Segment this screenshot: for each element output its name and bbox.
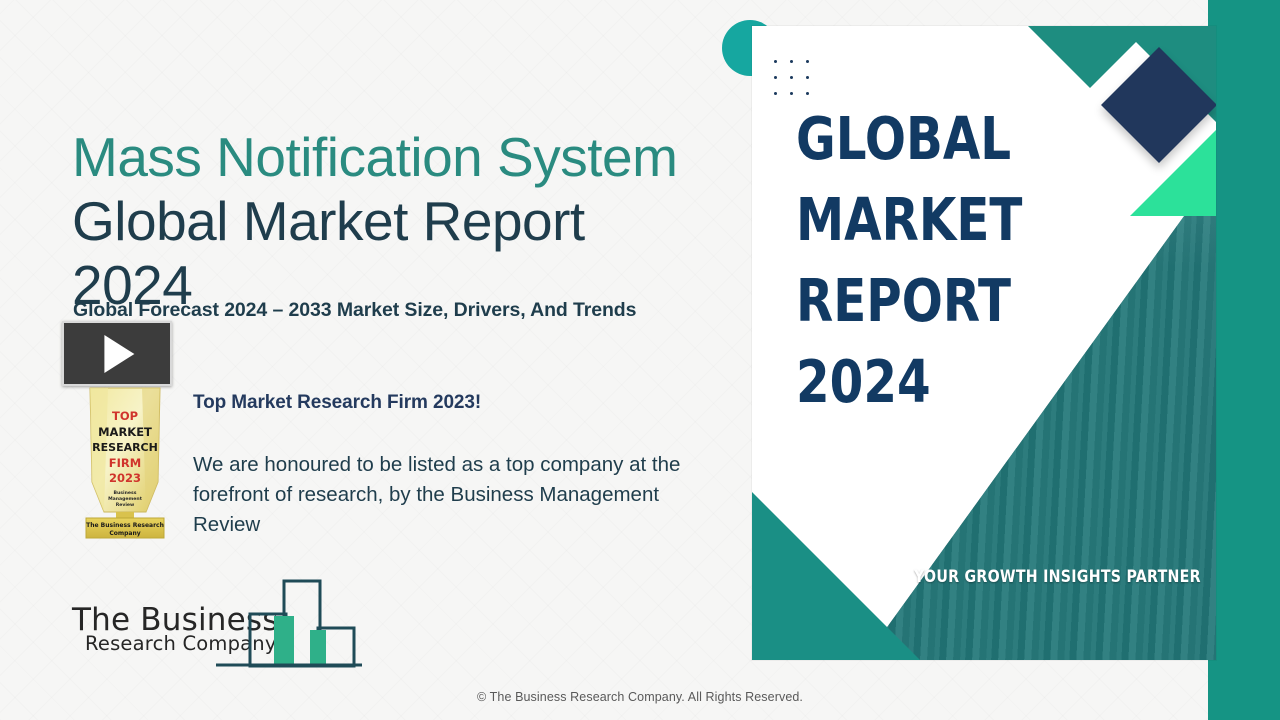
cover-tagline: YOUR GROWTH INSIGHTS PARTNER <box>914 567 1201 586</box>
svg-text:The Business Research: The Business Research <box>86 522 164 529</box>
svg-text:MARKET: MARKET <box>98 425 152 439</box>
presentation-slide: Mass Notification System Global Market R… <box>0 0 1280 720</box>
svg-text:RESEARCH: RESEARCH <box>92 441 158 454</box>
page-title: Mass Notification System Global Market R… <box>72 125 712 317</box>
award-badge: TOP MARKET RESEARCH FIRM 2023 Business M… <box>78 386 172 540</box>
svg-text:Company: Company <box>109 530 140 537</box>
play-icon[interactable] <box>104 335 134 373</box>
award-heading: Top Market Research Firm 2023! <box>193 392 481 414</box>
footer-copyright: © The Business Research Company. All Rig… <box>0 690 1280 704</box>
cover-title-line-2: MARKET <box>796 179 1042 260</box>
svg-text:Review: Review <box>116 502 135 508</box>
teal-bottom-corner <box>752 492 920 660</box>
logo-bar-chart-icon <box>206 570 362 668</box>
company-logo: The Business Research Company <box>72 570 362 670</box>
award-description: We are honoured to be listed as a top co… <box>193 450 703 540</box>
svg-text:Management: Management <box>108 496 143 502</box>
title-highlight: Mass Notification System <box>72 126 677 188</box>
video-thumbnail[interactable] <box>62 321 172 386</box>
svg-text:FIRM: FIRM <box>109 456 141 470</box>
left-content-column: Mass Notification System Global Market R… <box>0 0 730 720</box>
right-accent-bar <box>1208 0 1280 720</box>
svg-text:Business: Business <box>114 490 137 496</box>
report-cover: GLOBAL MARKET REPORT 2024 YOUR GROWTH IN… <box>752 26 1216 660</box>
svg-text:2023: 2023 <box>109 471 141 485</box>
svg-text:TOP: TOP <box>112 409 138 423</box>
cover-title: GLOBAL MARKET REPORT 2024 <box>796 98 1042 422</box>
cover-title-line-4: 2024 <box>796 341 1042 422</box>
cover-title-line-1: GLOBAL <box>796 98 1042 179</box>
cover-title-line-3: REPORT <box>796 260 1042 341</box>
